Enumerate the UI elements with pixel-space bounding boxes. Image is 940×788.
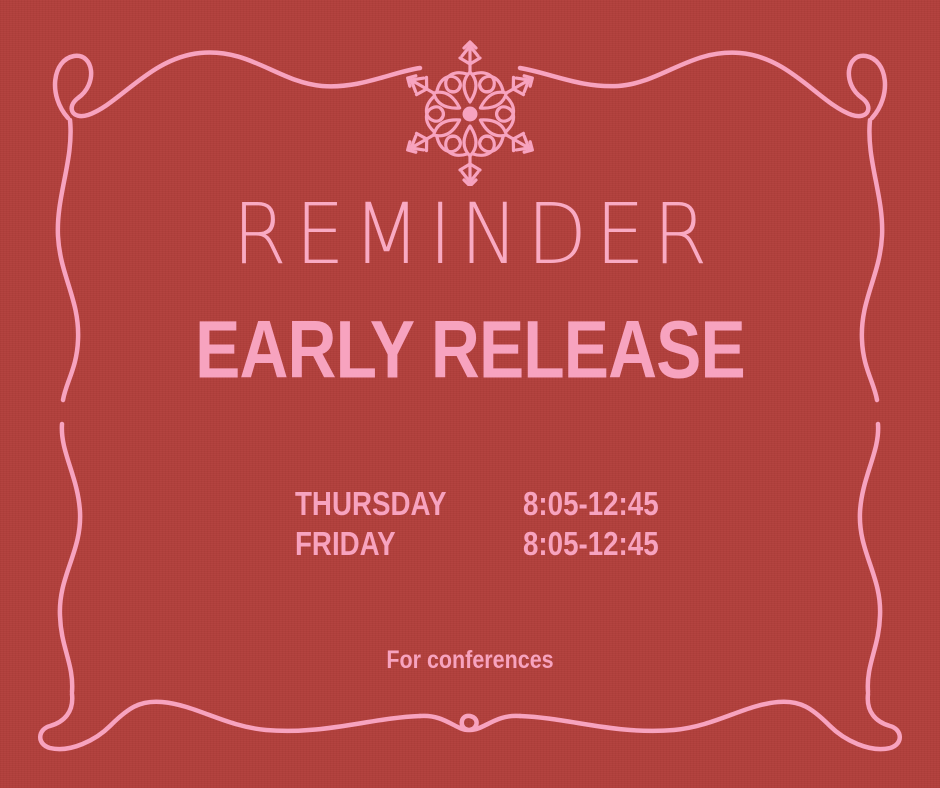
schedule-day: FRIDAY: [295, 524, 487, 564]
footer-note: For conferences: [66, 648, 874, 673]
schedule-day: THURSDAY: [295, 484, 487, 524]
poster-content: REMINDER EARLY RELEASE THURSDAY 8:05-12:…: [0, 0, 940, 788]
schedule-table: THURSDAY 8:05-12:45 FRIDAY 8:05-12:45: [295, 484, 684, 565]
schedule-time: 8:05-12:45: [523, 484, 659, 524]
table-row: THURSDAY 8:05-12:45: [295, 484, 684, 524]
page-title: EARLY RELEASE: [56, 310, 883, 392]
eyebrow-heading: REMINDER: [33, 192, 907, 276]
schedule-time: 8:05-12:45: [523, 524, 659, 564]
early-release-poster: REMINDER EARLY RELEASE THURSDAY 8:05-12:…: [0, 0, 940, 788]
table-row: FRIDAY 8:05-12:45: [295, 524, 684, 564]
